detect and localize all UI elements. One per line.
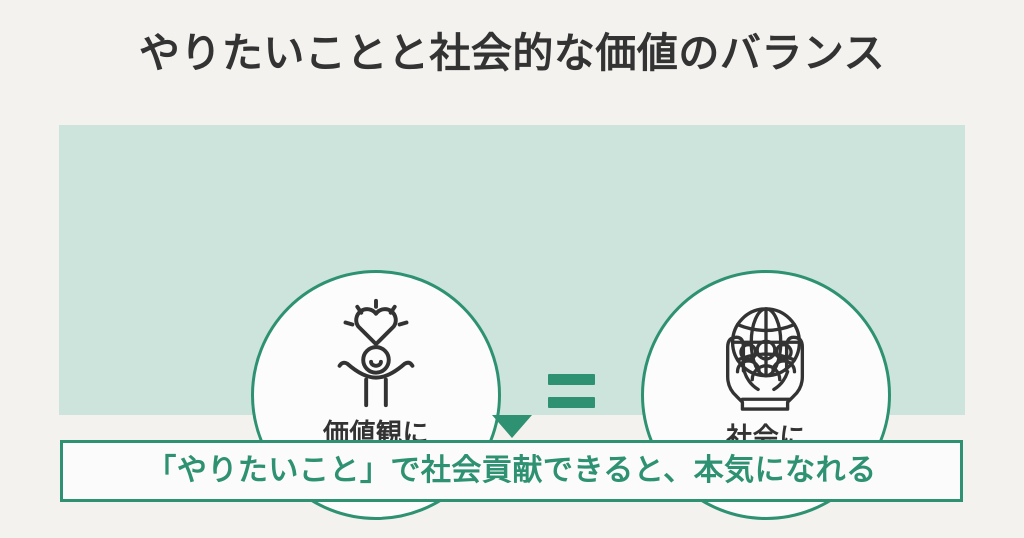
person-with-heart-icon	[317, 295, 435, 413]
equals-icon	[548, 374, 595, 416]
equals-bar-bottom	[548, 397, 595, 408]
hands-holding-globe-with-people-icon	[705, 301, 827, 413]
conclusion-banner: 「やりたいこと」で社会貢献できると、本気になれる	[60, 440, 963, 502]
page-title: やりたいことと社会的な価値のバランス	[0, 27, 1024, 79]
triangle-down-icon	[492, 415, 532, 438]
equals-bar-top	[548, 374, 595, 385]
comparison-panel: 価値観に 沿った仕事	[59, 125, 965, 415]
page-root: やりたいことと社会的な価値のバランス	[0, 0, 1024, 538]
conclusion-banner-text: 「やりたいこと」で社会貢献できると、本気になれる	[146, 452, 876, 490]
